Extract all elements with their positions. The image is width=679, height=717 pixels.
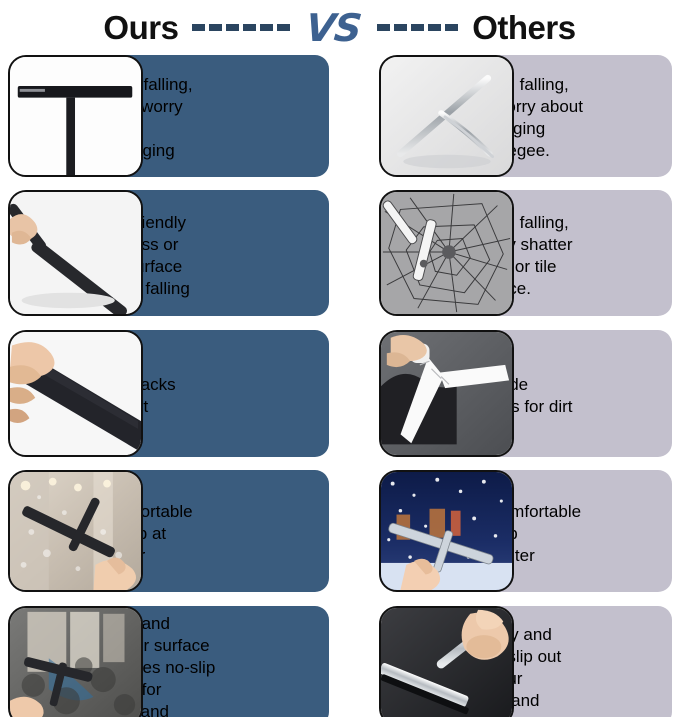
ours-cell: No cracks for dirt	[8, 330, 329, 461]
comparison-row: No cracks for dirt	[8, 330, 671, 461]
product-photo-white-squeegee-cracks	[379, 330, 514, 457]
product-photo-seamless-black-blade	[8, 330, 143, 457]
ours-cell: Even falling, don't worry about damaging	[8, 55, 329, 181]
right-dashes	[377, 24, 458, 31]
comparison-row: Light and rubber surface ensures no-slip…	[8, 606, 671, 717]
product-photo-snow-metal-squeegee	[379, 470, 514, 592]
ours-cell: It is friendly to glass or tile surface …	[8, 190, 329, 321]
product-photo-black-t-squeegee	[8, 55, 143, 177]
others-cell: Heavy and may slip out of your wet hand	[351, 606, 672, 717]
ours-cell: Light and rubber surface ensures no-slip…	[8, 606, 329, 717]
others-cell: Provide cracks for dirt	[351, 330, 672, 461]
dash-segment	[243, 24, 256, 31]
comparison-row: Even falling, don't worry about damaging	[8, 55, 671, 181]
comparison-rows: Even falling, don't worry about damaging	[0, 55, 679, 717]
comparison-header: Ours VS Others	[0, 0, 679, 55]
dash-segment	[260, 24, 273, 31]
dash-segment	[192, 24, 205, 31]
dash-segment	[394, 24, 407, 31]
others-cell: Uncomfortable to grip at winter	[351, 470, 672, 597]
comparison-row: Comfortable to grip at winter	[8, 470, 671, 597]
product-photo-heavy-metal-squeegee	[379, 606, 514, 717]
left-dashes	[192, 24, 290, 31]
dash-segment	[445, 24, 458, 31]
dash-segment	[411, 24, 424, 31]
vs-badge: VS	[302, 9, 365, 47]
product-photo-dirty-window-squeegee	[8, 606, 143, 717]
product-photo-broken-metal-squeegee	[379, 55, 514, 177]
others-cell: When falling, do worry about damaging sq…	[351, 55, 672, 181]
others-label: Others	[472, 9, 575, 47]
product-photo-hand-holding-black-squeegee	[8, 190, 143, 316]
ours-label: Ours	[103, 9, 178, 47]
dash-segment	[226, 24, 239, 31]
others-cell: When falling, it may shatter glass or ti…	[351, 190, 672, 321]
dash-segment	[277, 24, 290, 31]
dash-segment	[428, 24, 441, 31]
dash-segment	[209, 24, 222, 31]
ours-cell: Comfortable to grip at winter	[8, 470, 329, 597]
comparison-row: It is friendly to glass or tile surface …	[8, 190, 671, 321]
product-photo-shattered-glass	[379, 190, 514, 316]
dash-segment	[377, 24, 390, 31]
product-photo-shower-glass-squeegee	[8, 470, 143, 592]
